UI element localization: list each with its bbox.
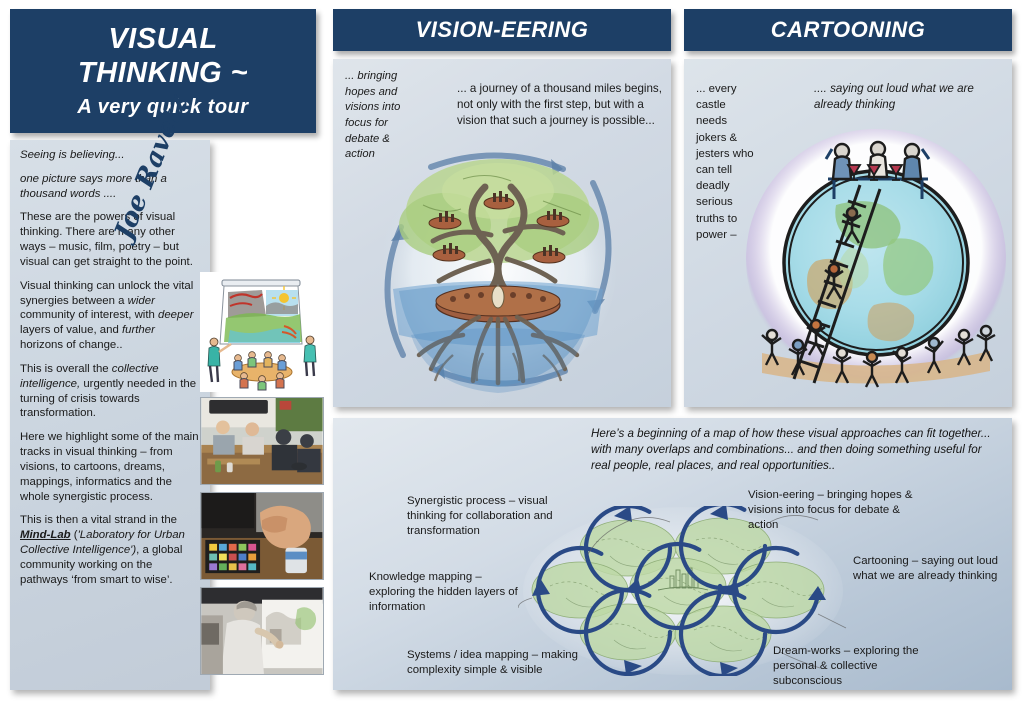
photo-hands-with-pastels — [200, 492, 324, 580]
cartoon-quote: .... saying out loud what we are already… — [814, 81, 1004, 113]
poster-canvas: VISUAL THINKING ~ A very quick tour Seei… — [0, 0, 1024, 708]
vision-eering-panel: ... bringing hopes and visions into focu… — [333, 59, 671, 407]
tree-of-life-illustration — [353, 139, 643, 401]
vision-eering-header: VISION-EERING — [333, 9, 671, 51]
title-line-2: THINKING ~ — [78, 56, 248, 90]
photo-man-drawing-on-flipchart — [200, 587, 324, 675]
globe-cartoon-illustration — [742, 129, 1010, 397]
map-intro-text: Here’s a beginning of a map of how these… — [591, 426, 1003, 474]
intro-paragraph-4: Visual thinking can unlock the vital syn… — [20, 279, 200, 353]
title-line-1: VISUAL — [108, 22, 217, 56]
cartooning-panel: ... every castle needs jokers & jesters … — [684, 59, 1012, 407]
map-label-cartooning: Cartooning – saying out loud what we are… — [853, 554, 1012, 584]
map-label-vision-eering: Vision-eering – bringing hopes & visions… — [748, 488, 928, 533]
cartooning-header: CARTOONING — [684, 9, 1012, 51]
map-label-knowledge-mapping: Knowledge mapping – exploring the hidden… — [369, 570, 519, 615]
intro-paragraph-6: Here we highlight some of the main track… — [20, 430, 200, 504]
visual-approaches-map-panel: Here’s a beginning of a map of how these… — [333, 418, 1012, 690]
map-label-dream-works: Dream-works – exploring the personal & c… — [773, 644, 948, 689]
intro-paragraph-5: This is overall the collective intellige… — [20, 362, 200, 421]
vision-quote: ... a journey of a thousand miles begins… — [457, 81, 662, 128]
photo-workshop-group-outdoors — [200, 397, 324, 485]
workshop-flipchart-illustration — [200, 272, 328, 392]
intro-paragraph-7: This is then a vital strand in the Mind-… — [20, 513, 200, 587]
map-label-synergistic-process: Synergistic process – visual thinking fo… — [407, 494, 587, 539]
map-label-systems-idea-mapping: Systems / idea mapping – making complexi… — [407, 648, 592, 678]
